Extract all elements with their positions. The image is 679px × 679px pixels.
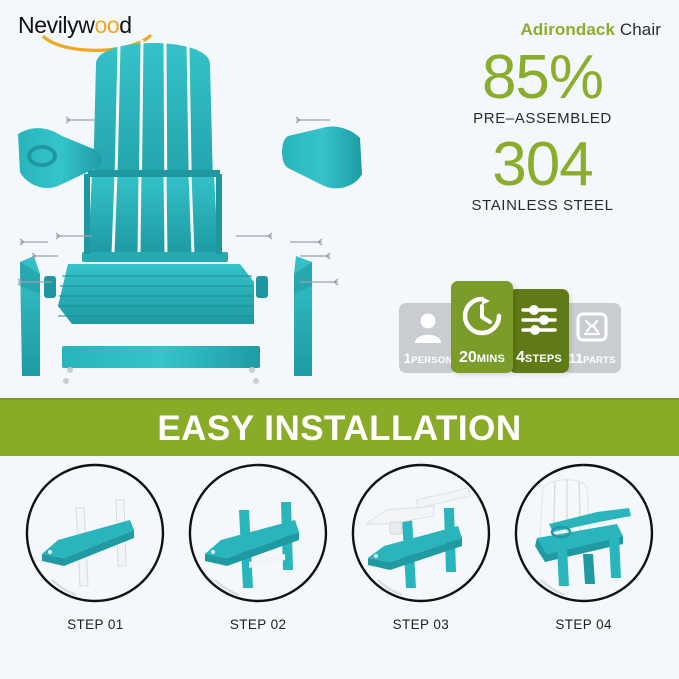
step-illustration-2: [187, 462, 329, 604]
badge-caption-steps: 4STEPS: [516, 350, 562, 366]
step-item: STEP 04: [508, 462, 660, 632]
badge-number-steps: 4: [516, 349, 525, 366]
parts-icon: [563, 303, 621, 351]
exploded-parts-diagram: [0, 24, 400, 394]
step-item: STEP 01: [19, 462, 171, 632]
step-label-3: STEP 03: [393, 617, 450, 632]
top-section: Nevilywood Adirondack Chair: [0, 0, 679, 398]
sliders-icon: [509, 289, 569, 350]
stat-pre-assembled: 85% PRE–ASSEMBLED: [420, 48, 665, 127]
step-label-2: STEP 02: [230, 617, 287, 632]
stat-stainless-steel: 304 STAINLESS STEEL: [420, 135, 665, 214]
step-label-4: STEP 04: [555, 617, 612, 632]
installation-steps: STEP 01 STEP 02 STE: [0, 462, 679, 632]
right-leg-part: [294, 256, 312, 376]
stats-group: 85% PRE–ASSEMBLED 304 STAINLESS STEEL: [420, 48, 665, 222]
left-leg-part: [20, 256, 40, 376]
step-illustration-4: [513, 462, 655, 604]
badge-caption-parts: 11PARTS: [568, 351, 615, 367]
cross-brace-part: [62, 346, 260, 384]
badge-word-mins: MINS: [477, 353, 505, 365]
product-title-brand: Adirondack: [521, 20, 616, 39]
right-armrest-part: [282, 126, 362, 188]
badge-parts: 11PARTS: [563, 303, 621, 373]
product-title: Adirondack Chair: [521, 20, 661, 40]
step-label-1: STEP 01: [67, 617, 124, 632]
stat-value-pre-assembled: 85%: [420, 48, 665, 108]
spec-badges: 1PERSON 20MINS: [399, 281, 621, 373]
step-item: STEP 02: [182, 462, 334, 632]
clock-icon: [451, 281, 513, 350]
badge-word-person: PERSON: [411, 355, 452, 366]
badge-person: 1PERSON: [399, 303, 457, 373]
seat-part: [44, 264, 268, 324]
badge-number-mins: 20: [459, 349, 477, 366]
banner-title: EASY INSTALLATION: [157, 411, 521, 446]
stat-label-pre-assembled: PRE–ASSEMBLED: [420, 110, 665, 127]
easy-installation-banner: EASY INSTALLATION: [0, 398, 679, 456]
stat-value-stainless-steel: 304: [420, 135, 665, 195]
badge-caption-mins: 20MINS: [459, 350, 505, 366]
stat-label-stainless-steel: STAINLESS STEEL: [420, 197, 665, 214]
badge-steps: 4STEPS: [509, 289, 569, 373]
backrest-part: [82, 40, 228, 262]
product-title-type: Chair: [620, 20, 661, 39]
step-illustration-1: [24, 462, 166, 604]
badge-word-parts: PARTS: [583, 355, 616, 366]
step-item: STEP 03: [345, 462, 497, 632]
step-illustration-3: [350, 462, 492, 604]
badge-word-steps: STEPS: [525, 353, 562, 365]
person-icon: [399, 303, 457, 351]
badge-mins: 20MINS: [451, 281, 513, 373]
badge-number-parts: 11: [568, 350, 583, 366]
badge-caption-person: 1PERSON: [403, 351, 452, 367]
